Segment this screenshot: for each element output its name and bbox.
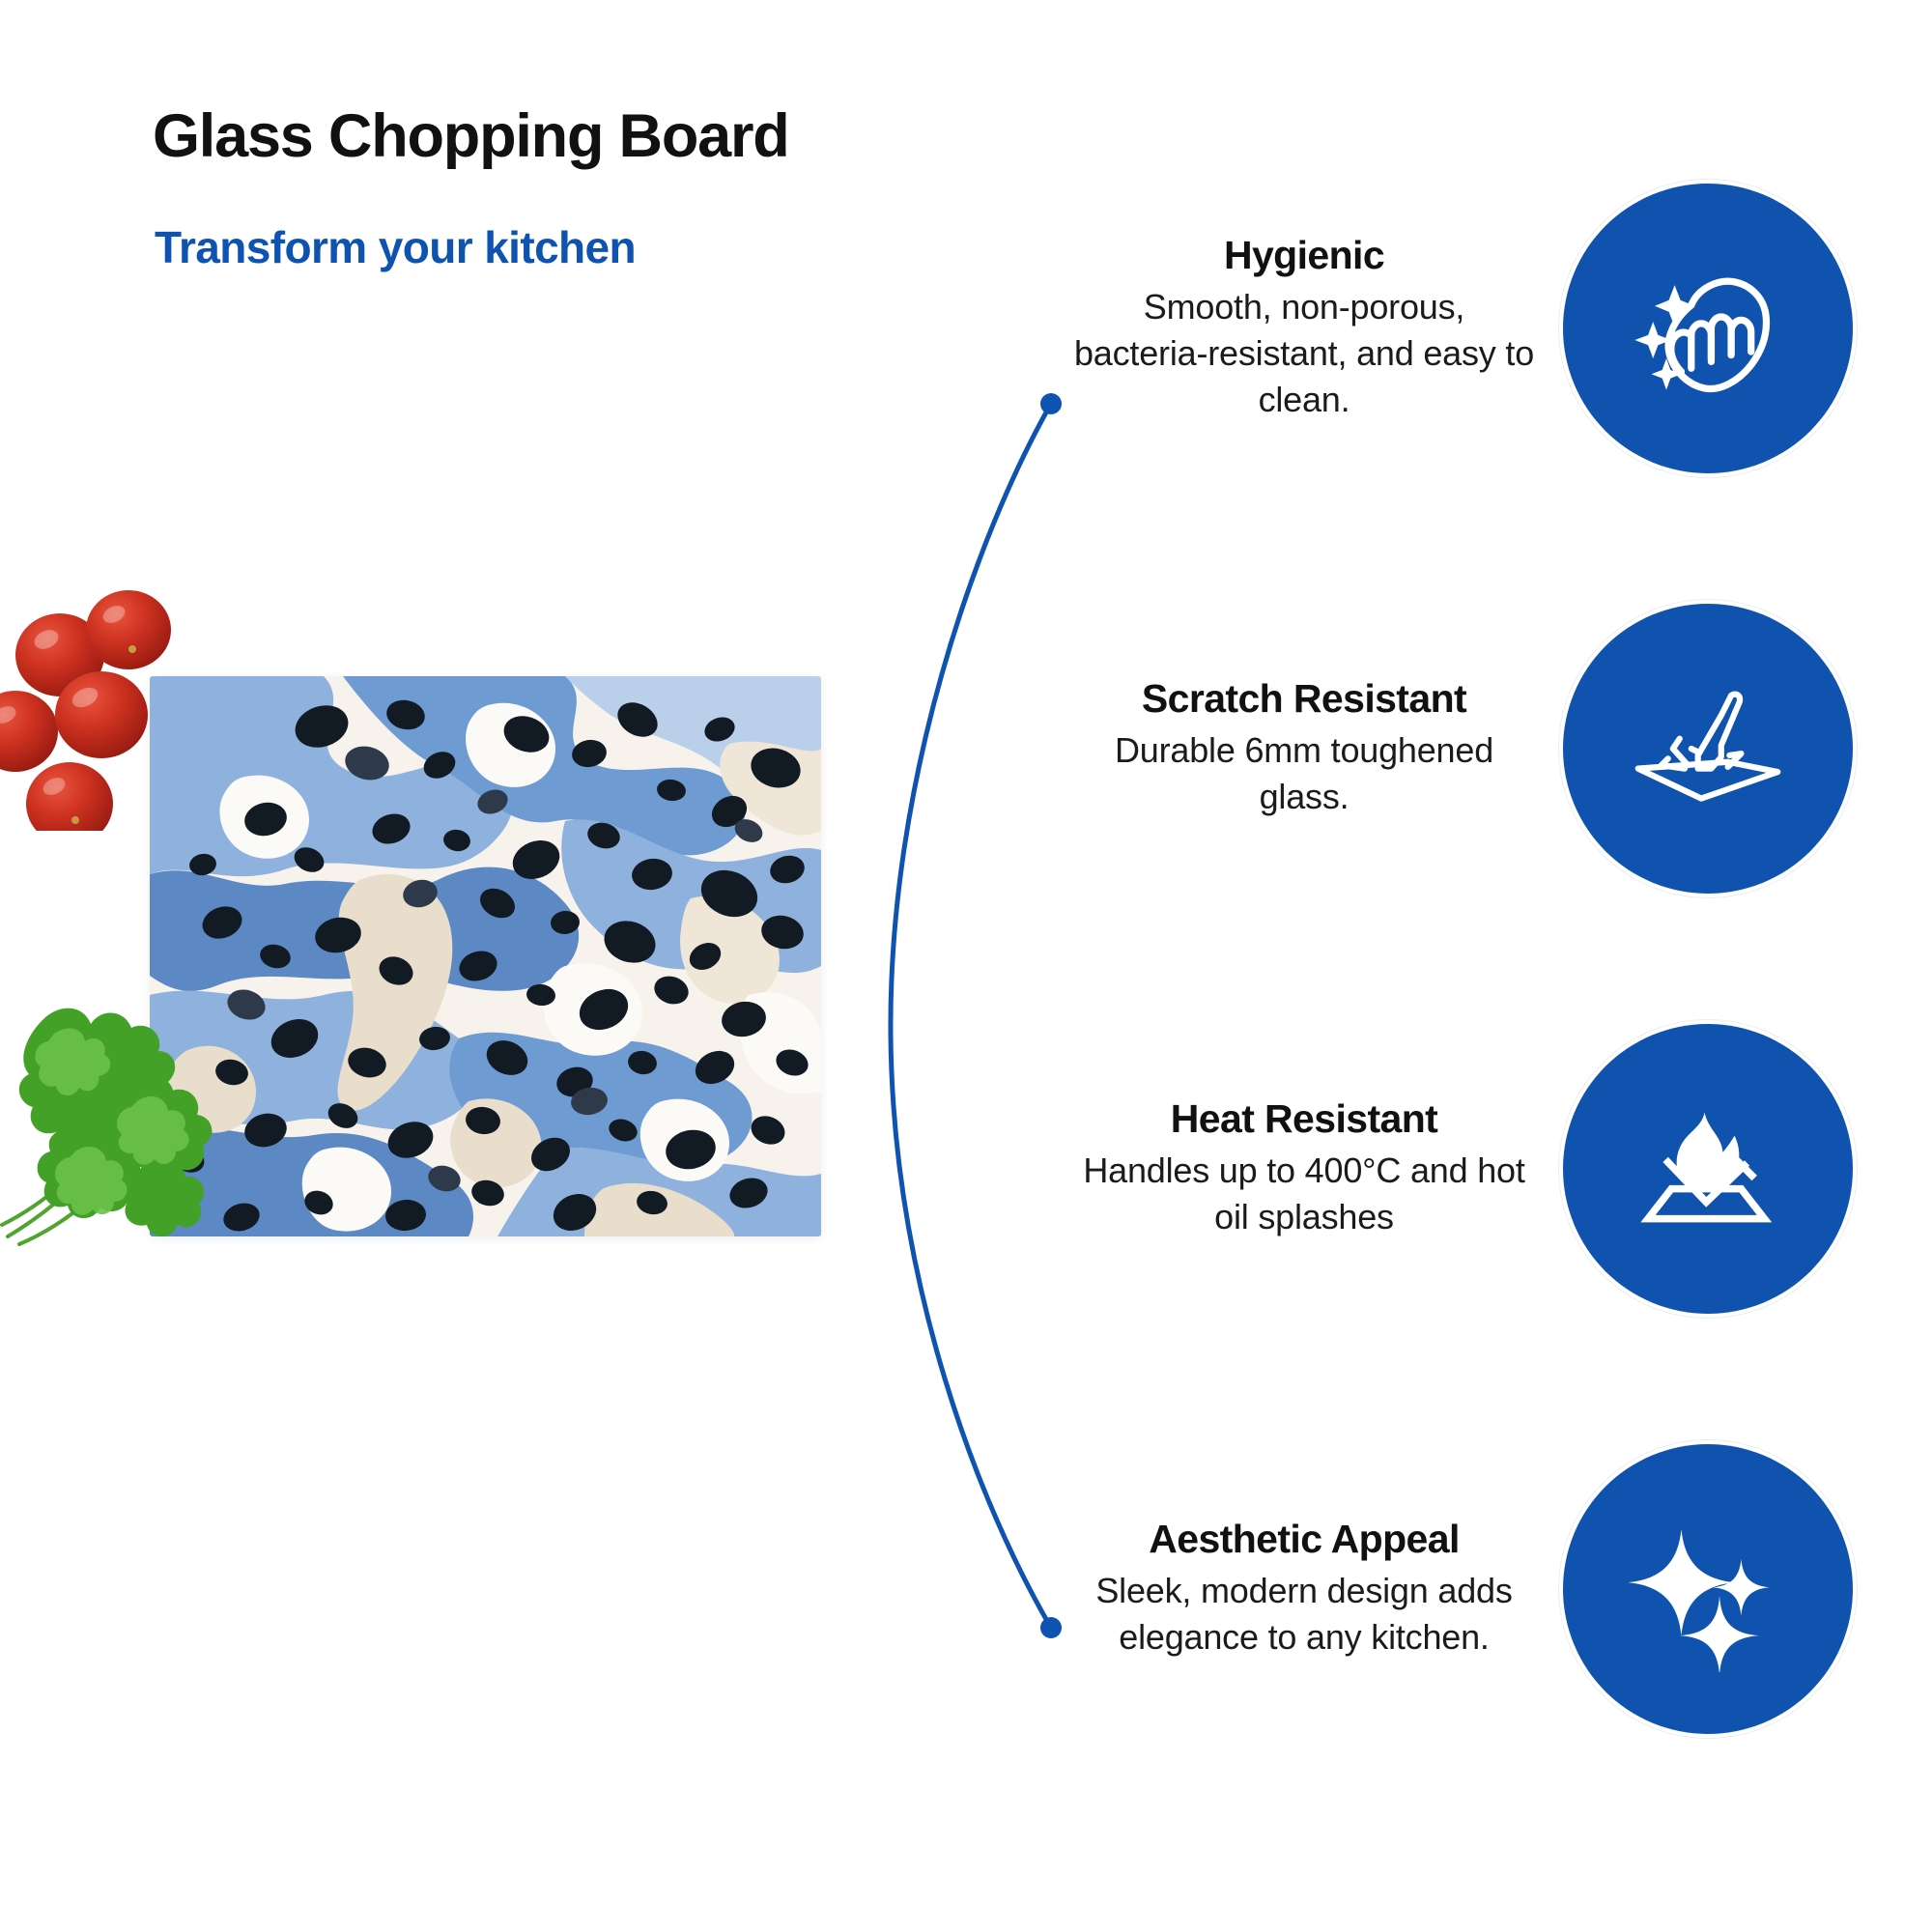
feature-icon-badge	[1563, 1024, 1853, 1314]
feature-heading: Hygienic	[1072, 234, 1536, 278]
feature-aesthetic-appeal: Aesthetic Appeal Sleek, modern design ad…	[1072, 1444, 1853, 1734]
infographic-canvas: Glass Chopping Board Transform your kitc…	[0, 0, 1932, 1932]
feature-body: Sleek, modern design adds elegance to an…	[1072, 1568, 1536, 1661]
cherry-tomatoes-image	[0, 580, 251, 831]
feature-icon-badge	[1563, 1444, 1853, 1734]
feature-text-block: Scratch Resistant Durable 6mm toughened …	[1072, 677, 1536, 820]
feature-heading: Aesthetic Appeal	[1072, 1518, 1536, 1562]
feature-text-block: Aesthetic Appeal Sleek, modern design ad…	[1072, 1518, 1536, 1661]
feature-body: Durable 6mm toughened glass.	[1072, 727, 1536, 820]
feature-heat-resistant: Heat Resistant Handles up to 400°C and h…	[1072, 1024, 1853, 1314]
callout-dot-top	[1040, 393, 1062, 414]
callout-dot-bottom	[1040, 1617, 1062, 1638]
knife-impact-surface-icon	[1625, 666, 1791, 832]
feature-hygienic: Hygienic Smooth, non-porous, bacteria-re…	[1072, 184, 1853, 473]
hand-wiping-sparkle-icon	[1625, 245, 1791, 412]
feature-icon-badge	[1563, 184, 1853, 473]
feature-icon-badge	[1563, 604, 1853, 894]
sparkles-icon	[1625, 1506, 1791, 1672]
feature-scratch-resistant: Scratch Resistant Durable 6mm toughened …	[1072, 604, 1853, 894]
page-title: Glass Chopping Board	[153, 104, 789, 168]
feature-text-block: Hygienic Smooth, non-porous, bacteria-re…	[1072, 234, 1536, 424]
product-image-group	[0, 580, 869, 1256]
feature-heading: Heat Resistant	[1072, 1097, 1536, 1142]
parsley-bunch-image	[0, 995, 280, 1256]
feature-text-block: Heat Resistant Handles up to 400°C and h…	[1072, 1097, 1536, 1240]
flame-deflect-arrow-icon	[1625, 1086, 1791, 1252]
feature-heading: Scratch Resistant	[1072, 677, 1536, 722]
page-subtitle: Transform your kitchen	[155, 224, 636, 270]
feature-body: Handles up to 400°C and hot oil splashes	[1072, 1148, 1536, 1240]
feature-body: Smooth, non-porous, bacteria-resistant, …	[1072, 284, 1536, 424]
